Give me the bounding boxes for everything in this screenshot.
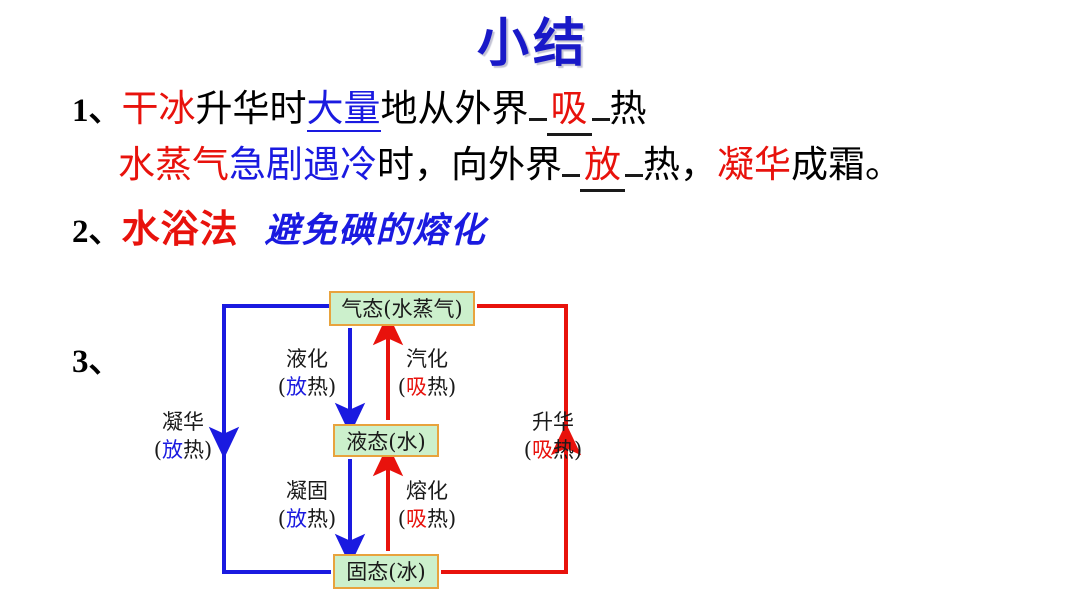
label-vaporization-heat: 吸	[406, 375, 427, 399]
label-vaporization-name: 汽化	[406, 347, 448, 371]
label-liquefaction: 液化 (放热)	[252, 345, 362, 401]
label-liquefaction-rest: 热	[307, 375, 328, 399]
label-solidification-heat: 放	[286, 507, 307, 531]
label-liquefaction-paren-close: )	[328, 375, 336, 399]
label-melting-paren-close: )	[448, 507, 456, 531]
state-box-solid[interactable]: 固态(冰)	[333, 554, 439, 589]
label-deposition-rest: 热	[183, 438, 204, 462]
label-sublimation-paren-open: (	[524, 438, 532, 462]
label-liquefaction-heat: 放	[286, 375, 307, 399]
label-solidification-paren-open: (	[278, 507, 286, 531]
label-vaporization: 汽化 (吸热)	[372, 345, 482, 401]
label-sublimation-heat: 吸	[532, 438, 553, 462]
label-deposition-heat: 放	[162, 438, 183, 462]
label-liquefaction-name: 液化	[286, 347, 328, 371]
label-melting: 熔化 (吸热)	[372, 477, 482, 533]
label-solidification-rest: 热	[307, 507, 328, 531]
label-melting-name: 熔化	[406, 479, 448, 503]
slide-canvas: 小结 1、干冰升华时大量地从外界吸热 水蒸气急剧遇冷时，向外界放热，凝华成霜。 …	[0, 0, 1066, 600]
label-solidification: 凝固 (放热)	[252, 477, 362, 533]
label-deposition-name: 凝华	[162, 410, 204, 434]
label-solidification-name: 凝固	[286, 479, 328, 503]
label-vaporization-paren-close: )	[448, 375, 456, 399]
label-deposition: 凝华 (放热)	[128, 408, 238, 464]
label-vaporization-paren-open: (	[398, 375, 406, 399]
state-box-gas[interactable]: 气态(水蒸气)	[329, 291, 475, 326]
label-liquefaction-paren-open: (	[278, 375, 286, 399]
phase-change-diagram	[0, 0, 1066, 600]
state-box-liquid[interactable]: 液态(水)	[333, 424, 439, 457]
label-melting-paren-open: (	[398, 507, 406, 531]
label-solidification-paren-close: )	[328, 507, 336, 531]
label-sublimation-rest: 热	[553, 438, 574, 462]
label-melting-rest: 热	[427, 507, 448, 531]
label-deposition-paren-open: (	[154, 438, 162, 462]
label-sublimation-paren-close: )	[574, 438, 582, 462]
label-sublimation-name: 升华	[532, 410, 574, 434]
label-sublimation: 升华 (吸热)	[498, 408, 608, 464]
label-melting-heat: 吸	[406, 507, 427, 531]
label-vaporization-rest: 热	[427, 375, 448, 399]
label-deposition-paren-close: )	[204, 438, 212, 462]
